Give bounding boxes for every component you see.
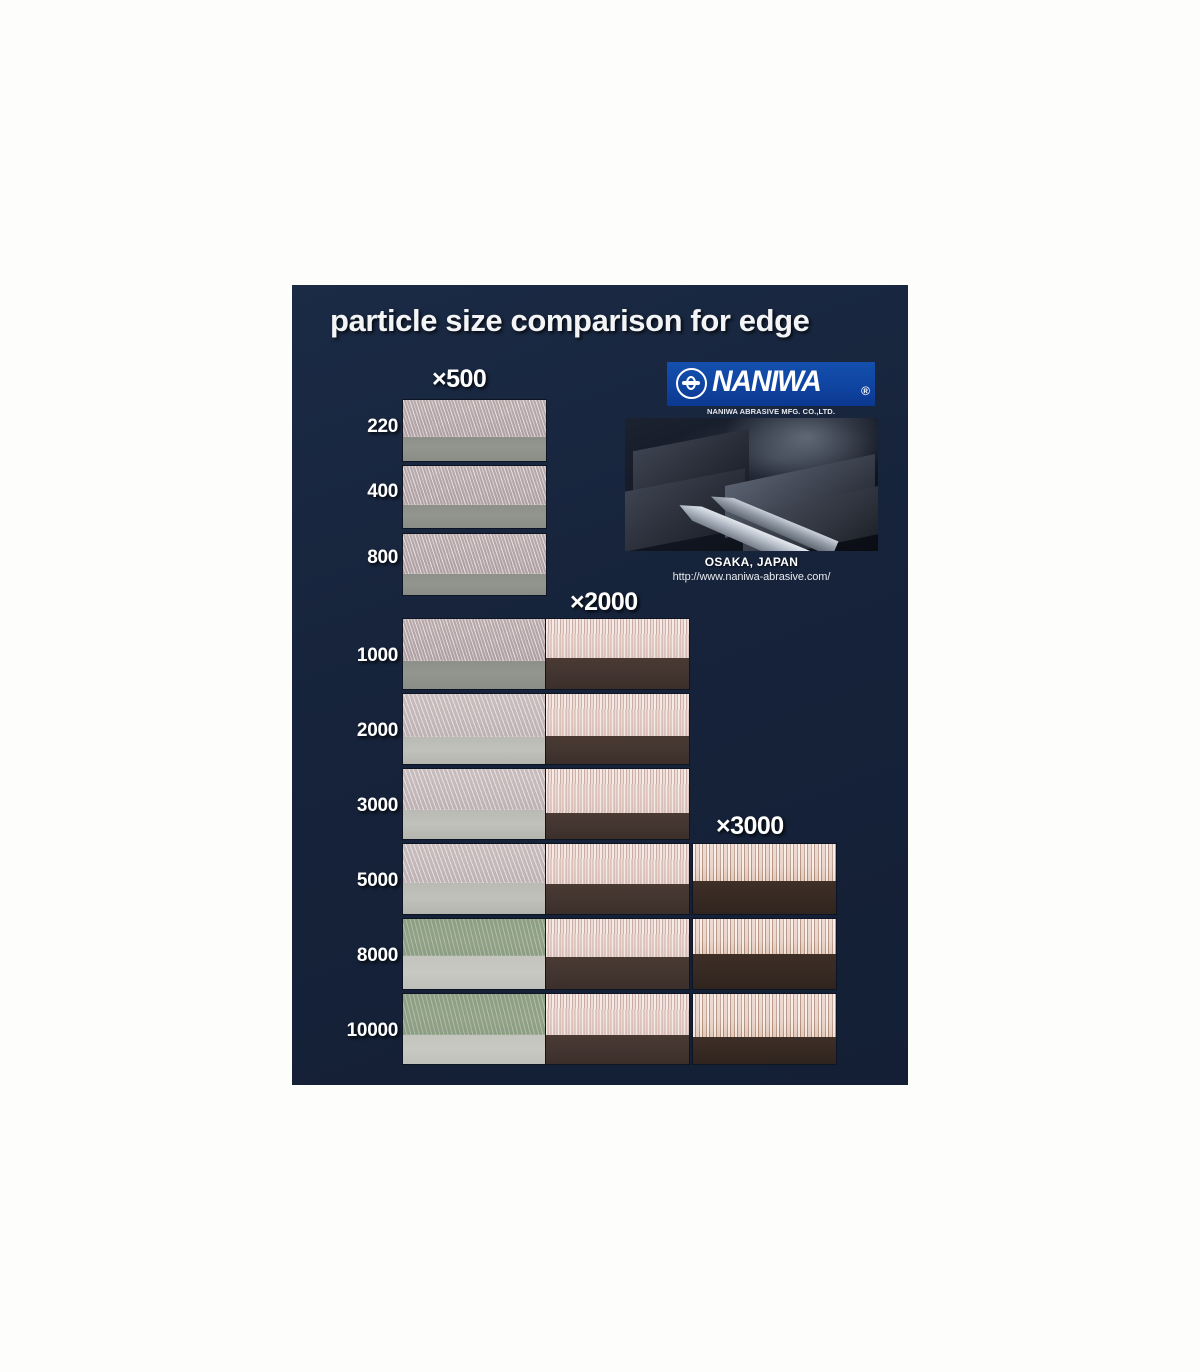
micrograph-tile-2000-x500 <box>402 693 547 765</box>
micrograph-tile-8000-x500 <box>402 918 547 990</box>
grit-label-5000: 5000 <box>312 870 398 892</box>
grit-label-400: 400 <box>312 481 398 503</box>
naniwa-logo: NANIWA ® <box>667 362 875 406</box>
micrograph-tile-2000-x2000 <box>545 693 690 765</box>
naniwa-wordmark: NANIWA <box>712 365 821 399</box>
micrograph-tile-1000-x2000 <box>545 618 690 690</box>
grit-label-220: 220 <box>312 416 398 438</box>
micrograph-tile-8000-x2000 <box>545 918 690 990</box>
micrograph-tile-8000-x3000 <box>692 918 837 990</box>
micrograph-tile-5000-x2000 <box>545 843 690 915</box>
micrograph-tile-1000-x500 <box>402 618 547 690</box>
brand-subtitle: NANIWA ABRASIVE MFG. CO.,LTD. <box>667 407 875 416</box>
brand-city: OSAKA, JAPAN <box>625 555 878 569</box>
micrograph-tile-5000-x3000 <box>692 843 837 915</box>
registered-trademark-icon: ® <box>861 384 870 398</box>
micrograph-tile-10000-x3000 <box>692 993 837 1065</box>
page-title: particle size comparison for edge <box>330 303 890 339</box>
micrograph-tile-10000-x500 <box>402 993 547 1065</box>
micrograph-tile-3000-x2000 <box>545 768 690 840</box>
micrograph-tile-5000-x500 <box>402 843 547 915</box>
poster-panel: particle size comparison for edge ×500 ×… <box>292 285 908 1085</box>
grit-label-1000: 1000 <box>312 645 398 667</box>
whetstones-and-knife-photo <box>625 418 878 551</box>
micrograph-tile-220-x500 <box>402 399 547 462</box>
magnification-header-x3000: ×3000 <box>716 812 784 841</box>
brand-url: http://www.naniwa-abrasive.com/ <box>625 571 878 583</box>
micrograph-tile-10000-x2000 <box>545 993 690 1065</box>
grit-label-2000: 2000 <box>312 720 398 742</box>
brand-block: NANIWA ® NANIWA ABRASIVE MFG. CO.,LTD. O… <box>625 362 878 605</box>
grit-label-10000: 10000 <box>312 1020 398 1042</box>
grit-label-3000: 3000 <box>312 795 398 817</box>
micrograph-tile-800-x500 <box>402 533 547 596</box>
naniwa-circle-emblem-icon <box>676 368 707 399</box>
grit-label-800: 800 <box>312 547 398 569</box>
grit-label-8000: 8000 <box>312 945 398 967</box>
micrograph-tile-3000-x500 <box>402 768 547 840</box>
micrograph-tile-400-x500 <box>402 465 547 529</box>
magnification-header-x500: ×500 <box>432 365 486 394</box>
